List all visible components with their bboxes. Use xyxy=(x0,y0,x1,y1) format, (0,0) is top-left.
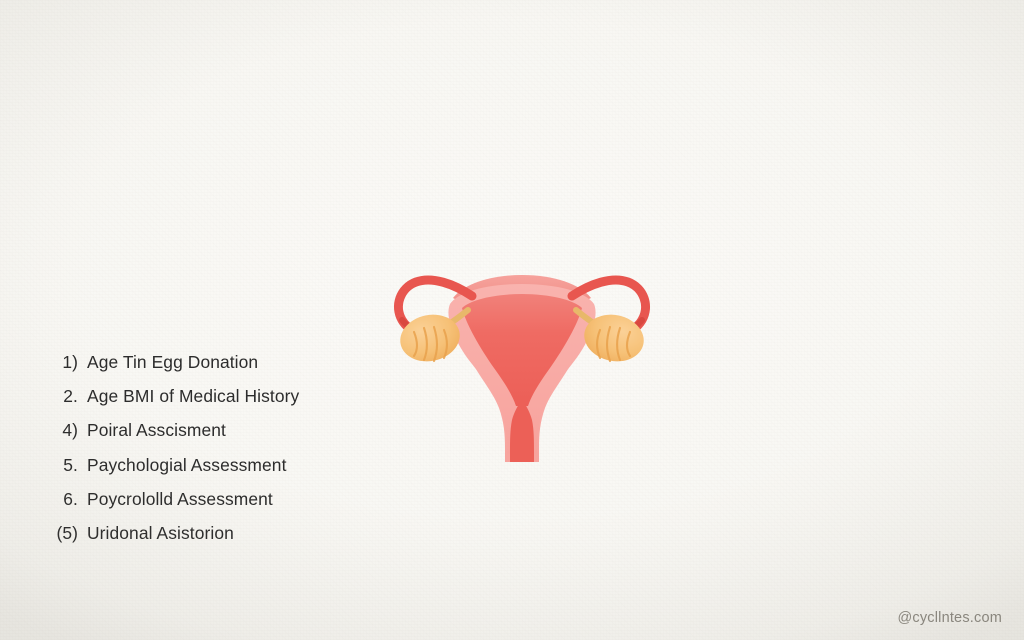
list-item-marker: 1) xyxy=(30,352,87,373)
list-item-label: Age Tin Egg Donation xyxy=(87,352,450,373)
list-item: 2. Age BMI of Medical History xyxy=(30,386,450,420)
list-item-marker: 2. xyxy=(30,386,87,407)
list-item-label: Poiral Asscisment xyxy=(87,420,450,441)
list-item: 5. Paychologial Assessment xyxy=(30,455,450,489)
list-item-label: Uridonal Asistorion xyxy=(87,523,450,544)
list-item-marker: 6. xyxy=(30,489,87,510)
list-item: 4) Poiral Asscisment xyxy=(30,420,450,454)
watermark: @cycllntes.com xyxy=(897,610,1002,626)
numbered-list: 1) Age Tin Egg Donation 2. Age BMI of Me… xyxy=(30,352,450,557)
list-item: 6. Poycrololld Assessment xyxy=(30,489,450,523)
list-item-label: Poycrololld Assessment xyxy=(87,489,450,510)
list-item-label: Age BMI of Medical History xyxy=(87,386,450,407)
list-item-label: Paychologial Assessment xyxy=(87,455,450,476)
list-item-marker: 5. xyxy=(30,455,87,476)
list-item: 1) Age Tin Egg Donation xyxy=(30,352,450,386)
infographic-page: 1) Age Tin Egg Donation 2. Age BMI of Me… xyxy=(0,0,1024,640)
list-item-marker: 4) xyxy=(30,420,87,441)
list-item: (5) Uridonal Asistorion xyxy=(30,523,450,557)
list-item-marker: (5) xyxy=(30,523,87,544)
